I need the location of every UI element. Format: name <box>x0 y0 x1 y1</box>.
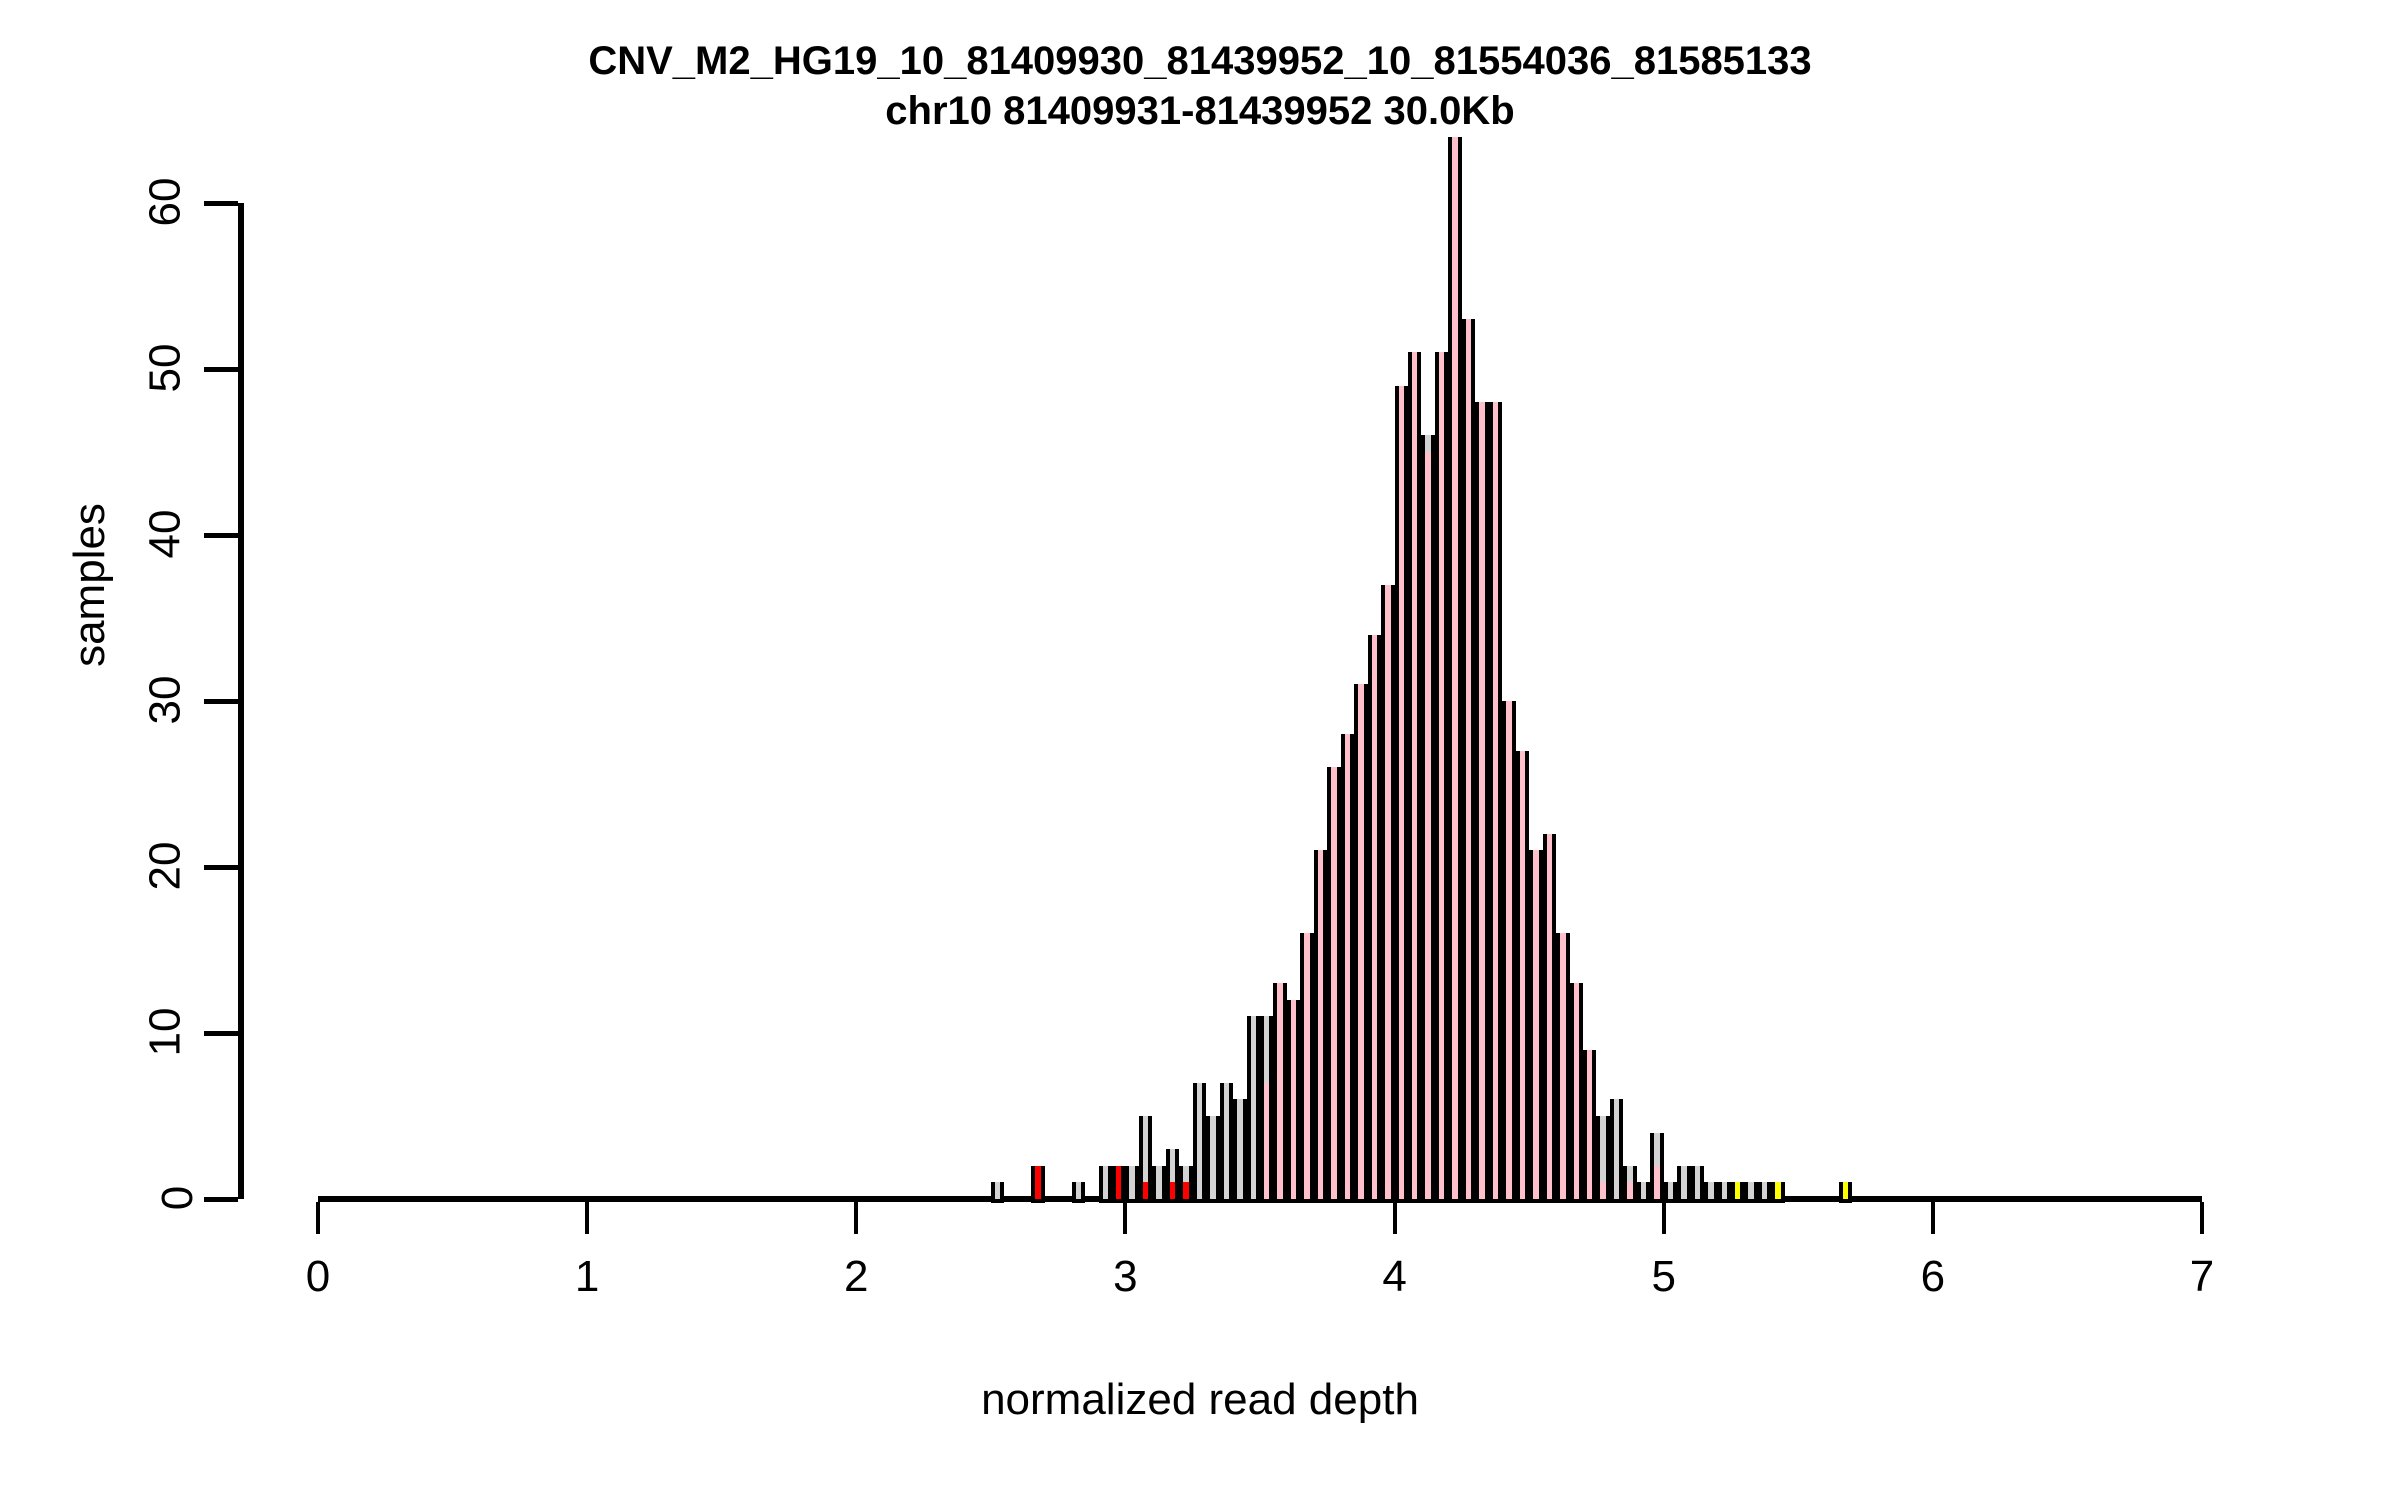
histogram-bar <box>1623 1166 1636 1203</box>
bar-segment-pink <box>1358 684 1363 1199</box>
histogram-bar <box>1462 319 1475 1203</box>
y-tick-label-text: 10 <box>141 1008 191 1057</box>
bar-segment-grey <box>1614 1099 1619 1199</box>
bar-segment-pink <box>1627 1182 1632 1199</box>
bar-segment-grey <box>1425 435 1430 452</box>
histogram-bar <box>1260 1016 1273 1203</box>
histogram-bar <box>1179 1166 1192 1203</box>
x-tick-label-3: 3 <box>1065 1252 1185 1302</box>
bar-segment-pink <box>1574 983 1579 1199</box>
y-tick-30 <box>204 699 238 704</box>
bar-segment-grey <box>1183 1166 1188 1183</box>
bar-segment-yellow <box>1775 1182 1780 1199</box>
histogram-bar <box>1139 1116 1152 1203</box>
histogram-bar <box>1771 1182 1784 1203</box>
histogram-bar <box>1664 1182 1677 1203</box>
histogram-bar <box>1354 684 1367 1203</box>
bar-segment-pink <box>1533 850 1538 1199</box>
bar-segment-pink <box>1318 850 1323 1199</box>
bar-segment-pink <box>1506 701 1511 1199</box>
histogram-bar <box>1166 1149 1179 1203</box>
y-tick-label-10: 10 <box>0 1007 190 1057</box>
bar-segment-red <box>1170 1182 1175 1199</box>
chart-subtitle: chr10 81409931-81439952 30.0Kb <box>0 86 2400 136</box>
bar-segment-grey <box>1668 1182 1673 1199</box>
histogram-bar <box>1381 585 1394 1203</box>
bar-segment-pink <box>1412 352 1417 1199</box>
bar-segment-grey <box>1722 1182 1727 1199</box>
histogram-bar <box>1475 402 1488 1203</box>
bar-segment-grey <box>1237 1099 1242 1199</box>
histogram-bar <box>1287 1000 1300 1203</box>
histogram-bar <box>1314 850 1327 1203</box>
histogram-bar <box>1583 1050 1596 1203</box>
histogram-bar <box>1489 402 1502 1203</box>
histogram-bar <box>1839 1182 1852 1203</box>
y-tick-label-text: 0 <box>153 1186 203 1210</box>
histogram-bar <box>1529 850 1542 1203</box>
y-tick-0 <box>204 1197 238 1202</box>
bar-segment-grey <box>1695 1166 1700 1199</box>
histogram-bar <box>1448 137 1461 1203</box>
bar-segment-pink <box>1439 352 1444 1199</box>
y-tick-20 <box>204 865 238 870</box>
histogram-bar <box>1395 386 1408 1203</box>
bar-segment-grey <box>1143 1116 1148 1182</box>
histogram-bar <box>1112 1166 1125 1203</box>
x-tick-0 <box>316 1202 320 1234</box>
y-tick-10 <box>204 1031 238 1036</box>
bar-segment-grey <box>1654 1133 1659 1166</box>
histogram-bar <box>1152 1166 1165 1203</box>
y-tick-60 <box>204 201 238 206</box>
histogram-bar <box>1193 1083 1206 1203</box>
bar-segment-red <box>1035 1166 1040 1199</box>
x-tick-6 <box>1931 1202 1935 1234</box>
histogram-bar <box>1421 435 1434 1203</box>
histogram-bar <box>991 1182 1004 1203</box>
y-tick-label-text: 30 <box>141 676 191 725</box>
bar-segment-grey <box>1129 1166 1134 1199</box>
x-tick-5 <box>1662 1202 1666 1234</box>
x-tick-7 <box>2200 1202 2204 1234</box>
histogram-bar <box>1031 1166 1044 1203</box>
bar-segment-pink <box>1291 1000 1296 1199</box>
x-tick-1 <box>585 1202 589 1234</box>
bar-segment-grey <box>995 1182 1000 1199</box>
bar-segment-grey <box>1210 1116 1215 1199</box>
x-tick-label-0: 0 <box>258 1252 378 1302</box>
x-tick-label-4: 4 <box>1335 1252 1455 1302</box>
bar-segment-grey <box>1762 1182 1767 1199</box>
y-tick-label-50: 50 <box>0 343 190 393</box>
bar-segment-grey <box>1076 1182 1081 1199</box>
bar-segment-pink <box>1493 402 1498 1199</box>
bar-segment-pink <box>1520 751 1525 1199</box>
bar-segment-grey <box>1264 1016 1269 1082</box>
y-tick-40 <box>204 533 238 538</box>
bar-segment-grey <box>1748 1182 1753 1199</box>
bar-segment-grey <box>1627 1166 1632 1183</box>
bar-segment-grey <box>1197 1083 1202 1199</box>
x-tick-label-5: 5 <box>1604 1252 1724 1302</box>
histogram-bar <box>1744 1182 1757 1203</box>
x-tick-label-2: 2 <box>796 1252 916 1302</box>
histogram-bar <box>1610 1099 1623 1203</box>
bar-segment-grey <box>1600 1116 1605 1182</box>
bar-segment-pink <box>1399 386 1404 1199</box>
bar-segment-pink <box>1654 1166 1659 1199</box>
chart-title: CNV_M2_HG19_10_81409930_81439952_10_8155… <box>0 36 2400 86</box>
histogram-bar <box>1758 1182 1771 1203</box>
bar-segment-yellow <box>1843 1182 1848 1199</box>
x-tick-label-6: 6 <box>1873 1252 1993 1302</box>
histogram-bar <box>1408 352 1421 1203</box>
y-tick-label-30: 30 <box>0 675 190 725</box>
y-tick-label-text: 20 <box>141 842 191 891</box>
histogram-bar <box>1596 1116 1609 1203</box>
bar-segment-red <box>1183 1182 1188 1199</box>
y-axis-title-wrap: samples <box>0 560 240 610</box>
bar-segment-pink <box>1587 1050 1592 1199</box>
bar-segment-pink <box>1560 933 1565 1199</box>
histogram-bar <box>1691 1166 1704 1203</box>
histogram-bar <box>1516 751 1529 1203</box>
histogram-bar <box>1570 983 1583 1203</box>
bar-segment-pink <box>1277 983 1282 1199</box>
y-tick-label-60: 60 <box>0 177 190 227</box>
y-tick-label-text: 60 <box>141 178 191 227</box>
x-axis-title: normalized read depth <box>0 1375 2400 1425</box>
histogram-bar <box>1341 734 1354 1203</box>
histogram-bar <box>1543 834 1556 1203</box>
chart-canvas: CNV_M2_HG19_10_81409930_81439952_10_8155… <box>0 0 2400 1500</box>
y-axis-line <box>238 203 244 1199</box>
histogram-bar <box>1072 1182 1085 1203</box>
bar-segment-grey <box>1681 1166 1686 1199</box>
bar-segment-grey <box>1251 1016 1256 1199</box>
y-tick-label-0: 0 <box>0 1173 190 1223</box>
histogram-bar <box>1637 1182 1650 1203</box>
x-tick-3 <box>1123 1202 1127 1234</box>
bar-segment-grey <box>1708 1182 1713 1199</box>
histogram-bar <box>1368 635 1381 1203</box>
y-tick-label-40: 40 <box>0 509 190 559</box>
bar-segment-pink <box>1385 585 1390 1199</box>
bar-segment-grey <box>1156 1166 1161 1199</box>
histogram-bar <box>1704 1182 1717 1203</box>
bar-segment-red <box>1116 1166 1121 1199</box>
histogram-bar <box>1220 1083 1233 1203</box>
histogram-bar <box>1327 767 1340 1203</box>
bar-segment-pink <box>1264 1083 1269 1199</box>
bar-segment-pink <box>1425 452 1430 1199</box>
x-tick-4 <box>1393 1202 1397 1234</box>
histogram-bar <box>1247 1016 1260 1203</box>
bar-segment-red <box>1143 1182 1148 1199</box>
bar-segment-pink <box>1600 1182 1605 1199</box>
x-tick-label-7: 7 <box>2142 1252 2262 1302</box>
bar-segment-grey <box>1224 1083 1229 1199</box>
histogram-bar <box>1099 1166 1112 1203</box>
bar-segment-pink <box>1547 834 1552 1199</box>
bar-segment-grey <box>1641 1182 1646 1199</box>
bar-segment-grey <box>1170 1149 1175 1182</box>
y-tick-label-20: 20 <box>0 841 190 891</box>
histogram-bar <box>1556 933 1569 1203</box>
histogram-bar <box>1125 1166 1138 1203</box>
histogram-bar <box>1650 1133 1663 1203</box>
y-tick-label-text: 50 <box>141 344 191 393</box>
bar-segment-grey <box>1103 1166 1108 1199</box>
bar-segment-yellow <box>1735 1182 1740 1199</box>
histogram-bar <box>1273 983 1286 1203</box>
bar-segment-pink <box>1331 767 1336 1199</box>
x-tick-label-1: 1 <box>527 1252 647 1302</box>
bar-segment-pink <box>1479 402 1484 1199</box>
bar-segment-pink <box>1345 734 1350 1199</box>
histogram-bar <box>1731 1182 1744 1203</box>
bar-segment-pink <box>1304 933 1309 1199</box>
histogram-bar <box>1502 701 1515 1203</box>
x-tick-2 <box>854 1202 858 1234</box>
bar-segment-pink <box>1372 635 1377 1199</box>
bar-segment-pink <box>1452 137 1457 1199</box>
bar-segment-pink <box>1466 319 1471 1199</box>
y-tick-label-text: 40 <box>141 510 191 559</box>
y-tick-50 <box>204 367 238 372</box>
histogram-bar <box>1206 1116 1219 1203</box>
histogram-bar <box>1233 1099 1246 1203</box>
histogram-bar <box>1435 352 1448 1203</box>
chart-title-block: CNV_M2_HG19_10_81409930_81439952_10_8155… <box>0 36 2400 136</box>
histogram-bar <box>1677 1166 1690 1203</box>
histogram-bar <box>1300 933 1313 1203</box>
histogram-bar <box>1718 1182 1731 1203</box>
